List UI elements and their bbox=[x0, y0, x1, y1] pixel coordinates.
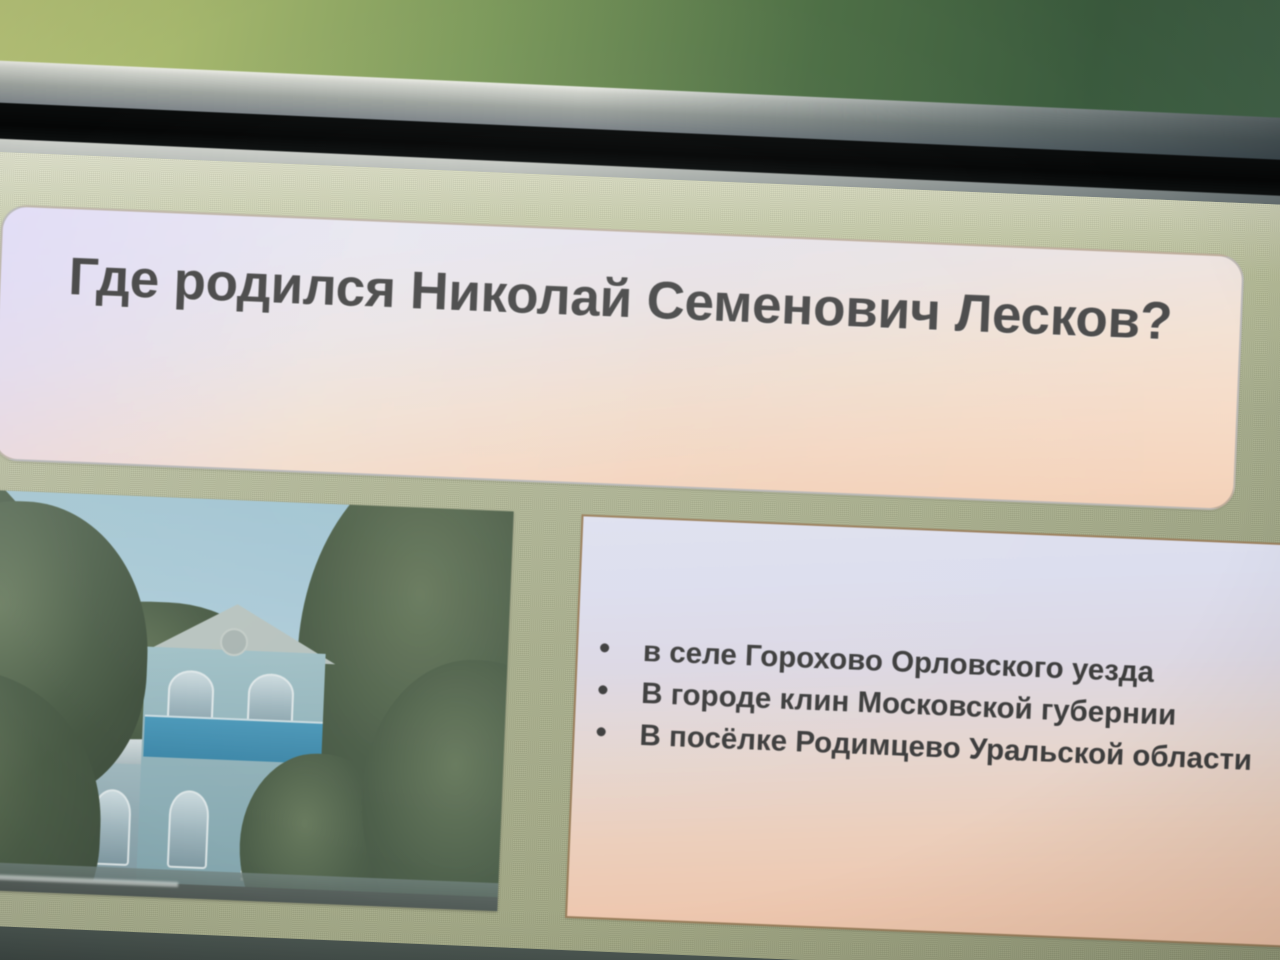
window-lower-4 bbox=[167, 790, 210, 870]
answer-options-list: в селе Горохово Орловского уезда В город… bbox=[574, 516, 1280, 785]
slide-photo-house bbox=[0, 485, 514, 911]
slide-surface: Где родился Николай Семенович Лесков? bbox=[0, 150, 1280, 960]
bullet-icon bbox=[598, 685, 607, 694]
slide-title-box: Где родился Николай Семенович Лесков? bbox=[0, 204, 1245, 511]
slide-answers-box: в селе Горохово Орловского уезда В город… bbox=[565, 514, 1280, 949]
bullet-icon bbox=[600, 643, 609, 652]
projected-slide: Где родился Николай Семенович Лесков? bbox=[0, 150, 1280, 960]
screenshot-stage: Где родился Николай Семенович Лесков? bbox=[0, 0, 1280, 960]
bullet-icon bbox=[597, 727, 606, 736]
